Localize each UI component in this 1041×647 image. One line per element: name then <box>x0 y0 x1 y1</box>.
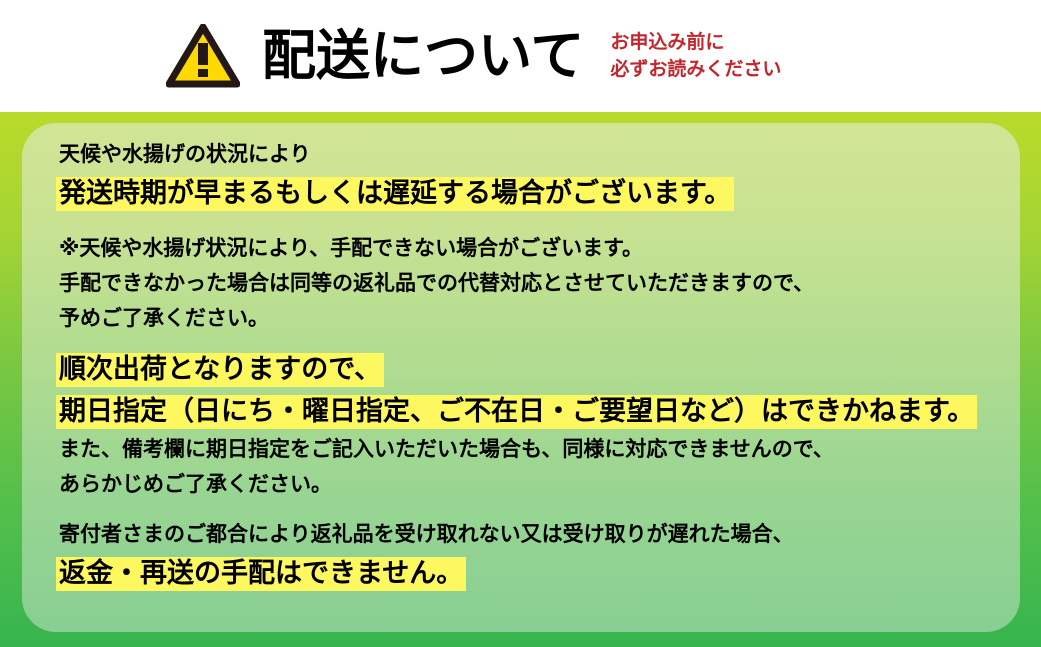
notice-line-highlighted: 発送時期が早まるもしくは遅延する場合がございます。 <box>56 177 1020 211</box>
notice-line-highlighted: 順次出荷となりますので、 <box>56 353 1020 387</box>
gradient-frame: 天候や水揚げの状況により 発送時期が早まるもしくは遅延する場合がございます。 ※… <box>0 112 1041 647</box>
notice-line: 天候や水揚げの状況により <box>56 141 1020 169</box>
notice-line: 予めご了承ください。 <box>56 305 1020 333</box>
delivery-notice-banner: 配送について お申込み前に 必ずお読みください 天候や水揚げの状況により 発送時… <box>0 0 1041 647</box>
notice-block-4: 寄付者さまのご都合により返礼品を受け取れない又は受け取りが遅れた場合、 返金・再… <box>22 521 1020 591</box>
notice-block-2: ※天候や水揚げ状況により、手配できない場合がございます。 手配できなかった場合は… <box>22 235 1020 333</box>
notice-block-1: 天候や水揚げの状況により 発送時期が早まるもしくは遅延する場合がございます。 <box>22 141 1020 211</box>
notice-line: 手配できなかった場合は同等の返礼品での代替対応とさせていただきますので、 <box>56 270 1020 298</box>
notice-line-highlighted: 返金・再送の手配はできません。 <box>56 557 1020 591</box>
header-subtitle-line1: お申込み前に <box>610 29 781 56</box>
page-title: 配送について <box>262 29 584 83</box>
notice-line: あらかじめご了承ください。 <box>56 471 1020 499</box>
header-subtitle-line2: 必ずお読みください <box>610 56 781 83</box>
notice-line: ※天候や水揚げ状況により、手配できない場合がございます。 <box>56 235 1020 263</box>
header-subtitle: お申込み前に 必ずお読みください <box>610 29 781 83</box>
notice-panel: 天候や水揚げの状況により 発送時期が早まるもしくは遅延する場合がございます。 ※… <box>22 123 1020 632</box>
banner-header: 配送について お申込み前に 必ずお読みください <box>0 0 1041 112</box>
notice-line-highlighted: 期日指定（日にち・曜日指定、ご不在日・ご要望日など）はできかねます。 <box>56 395 1020 429</box>
notice-block-3: 順次出荷となりますので、 期日指定（日にち・曜日指定、ご不在日・ご要望日など）は… <box>22 353 1020 499</box>
warning-triangle-icon <box>166 24 240 88</box>
notice-line: また、備考欄に期日指定をご記入いただいた場合も、同様に対応できませんので、 <box>56 436 1020 464</box>
notice-line: 寄付者さまのご都合により返礼品を受け取れない又は受け取りが遅れた場合、 <box>56 521 1020 549</box>
